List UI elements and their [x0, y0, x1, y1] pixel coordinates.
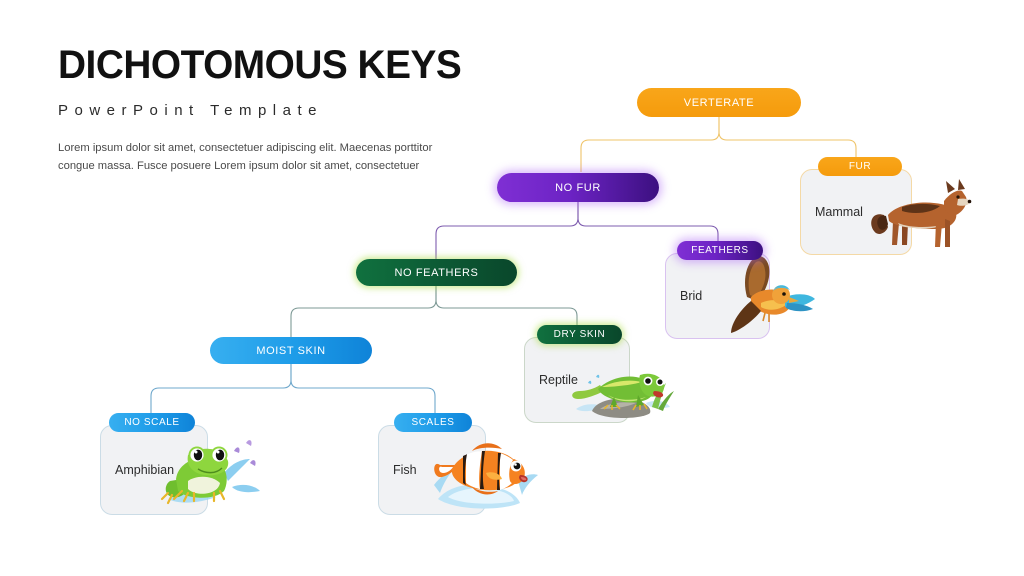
node-nofeathers-label: NO FEATHERS	[394, 267, 478, 279]
connector-nofur-nofeathers	[436, 202, 578, 260]
connector-moistskin-noscale	[151, 364, 291, 414]
card-noscale-body: Amphibian	[100, 425, 208, 515]
node-dryskin-label: DRY SKIN	[554, 329, 606, 340]
card-scales-body: Fish	[378, 425, 486, 515]
connector-nofeathers-moistskin	[291, 285, 436, 338]
node-moistskin-label: MOIST SKIN	[256, 345, 325, 357]
node-feathers-label: FEATHERS	[691, 245, 748, 256]
card-fur-body: Mammal	[800, 169, 912, 255]
node-scales-label: SCALES	[411, 417, 454, 428]
node-feathers[interactable]: FEATHERS	[677, 241, 763, 260]
card-dryskin-label: Reptile	[539, 373, 578, 387]
connector-verterate-fur	[719, 117, 856, 162]
slide-canvas: DICHOTOMOUS KEYS PowerPoint Template Lor…	[0, 0, 1024, 576]
card-scales-label: Fish	[393, 463, 417, 477]
node-dryskin[interactable]: DRY SKIN	[537, 325, 622, 344]
node-verterate[interactable]: VERTERATE	[637, 88, 801, 117]
card-dryskin-body: Reptile	[524, 337, 630, 423]
node-noscale[interactable]: NO SCALE	[109, 413, 195, 432]
node-fur[interactable]: FUR	[818, 157, 902, 176]
node-fur-label: FUR	[849, 161, 871, 172]
node-verterate-label: VERTERATE	[684, 97, 754, 109]
page-body-text: Lorem ipsum dolor sit amet, consectetuer…	[58, 139, 463, 176]
node-noscale-label: NO SCALE	[124, 417, 179, 428]
title-block: DICHOTOMOUS KEYS PowerPoint Template Lor…	[58, 44, 488, 176]
node-moistskin[interactable]: MOIST SKIN	[210, 337, 372, 364]
card-fur-label: Mammal	[815, 205, 863, 219]
node-nofur[interactable]: NO FUR	[497, 173, 659, 202]
connector-verterate-children	[581, 117, 719, 172]
node-scales[interactable]: SCALES	[394, 413, 472, 432]
connector-moistskin-scales	[291, 364, 435, 414]
connector-nofur-feathers	[578, 202, 718, 242]
page-title: DICHOTOMOUS KEYS	[58, 44, 475, 86]
card-feathers-label: Brid	[680, 289, 702, 303]
page-subtitle: PowerPoint Template	[58, 102, 488, 119]
card-feathers-body: Brid	[665, 253, 770, 339]
card-noscale-label: Amphibian	[115, 463, 174, 477]
node-nofur-label: NO FUR	[555, 182, 601, 194]
node-nofeathers[interactable]: NO FEATHERS	[356, 259, 517, 286]
connector-nofeathers-dryskin	[436, 285, 577, 326]
